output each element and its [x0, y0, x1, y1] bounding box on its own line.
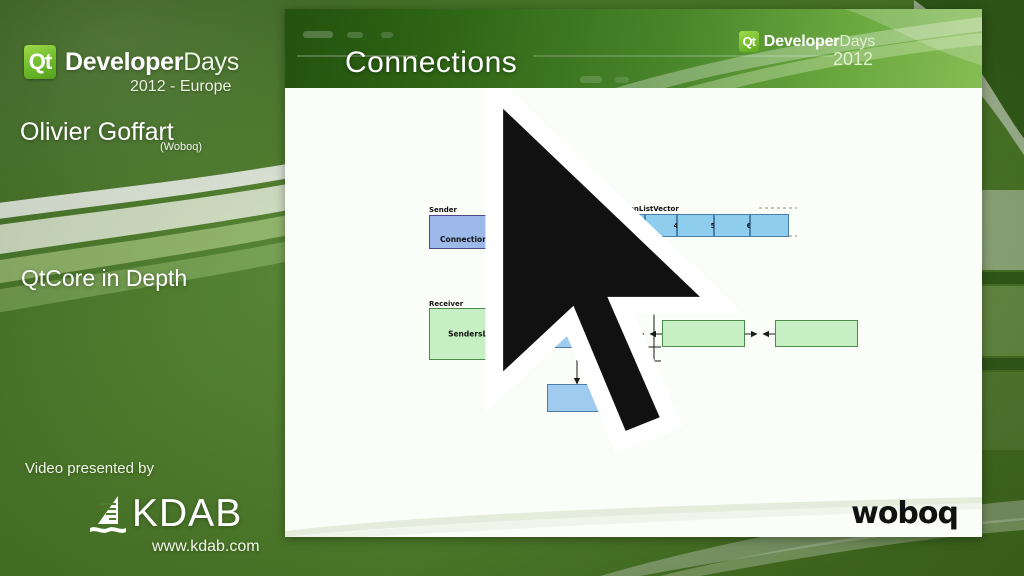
- brand-wordmark: DeveloperDays: [65, 48, 239, 77]
- sponsor-logo: KDAB: [88, 492, 242, 536]
- woboq-logo: woboq: [851, 496, 958, 531]
- receiver-senderslist-box: SendersList: [429, 308, 517, 360]
- connection-node-green-1[interactable]: [662, 320, 745, 347]
- screenshot-root: QtDeveloperDays 2012 - Europe Olivier Go…: [0, 0, 1024, 576]
- sponsor-url: www.kdab.com: [152, 538, 260, 556]
- vector-cell-6[interactable]: 6: [714, 214, 750, 237]
- brand-subtitle: 2012 - Europe: [130, 78, 231, 96]
- qt-logo-icon-small: Qt: [739, 31, 759, 52]
- slide-qt-wordmark-light: Days: [839, 33, 875, 50]
- connection-node-green-2[interactable]: [775, 320, 858, 347]
- slide-qt-wordmark: DeveloperDays: [764, 33, 875, 51]
- brand-wordmark-light: Days: [183, 48, 239, 76]
- diagram-connectors: [285, 88, 982, 493]
- slide-qt-year: 2012: [833, 49, 873, 70]
- sidebar: QtDeveloperDays 2012 - Europe Olivier Go…: [0, 0, 285, 576]
- receiver-senderslist-box-label: SendersList: [430, 330, 516, 339]
- pointer-last-label: last: [651, 238, 664, 246]
- split-node-fill: [548, 321, 632, 348]
- pointer-first-label: first: [616, 238, 630, 246]
- sender-connectionlist-box: ConnectionList: [429, 215, 514, 249]
- talk-title: QtCore in Depth: [21, 265, 187, 292]
- vector-cell-1[interactable]: 1: [546, 214, 581, 237]
- sponsor-name: KDAB: [132, 492, 242, 536]
- vector-cell-3[interactable]: 3: [616, 214, 645, 237]
- page-title: Connections: [345, 46, 517, 80]
- connection-node-blue-3[interactable]: [547, 384, 632, 412]
- vector-cell-5[interactable]: 5: [677, 214, 714, 237]
- qt-logo-icon: Qt: [24, 45, 56, 79]
- sender-connectionlist-box-label: ConnectionList: [430, 235, 513, 244]
- brand-wordmark-bold: Developer: [65, 48, 183, 76]
- vector-cell-2[interactable]: 2: [581, 214, 616, 237]
- connection-node-split-center[interactable]: [547, 320, 632, 348]
- receiver-label: Receiver: [429, 300, 463, 308]
- slide-qt-wordmark-bold: Developer: [764, 33, 840, 50]
- vector-cell-7-empty[interactable]: [750, 214, 789, 237]
- presentation-slide: Connections QtDeveloperDays 2012: [285, 9, 982, 537]
- speaker-name: Olivier Goffart: [20, 118, 174, 147]
- brand-logo: QtDeveloperDays: [24, 45, 239, 79]
- slide-header: Connections QtDeveloperDays 2012: [285, 9, 982, 88]
- vector-cell-4[interactable]: 4: [645, 214, 677, 237]
- presented-by-label: Video presented by: [25, 460, 154, 477]
- vector-label: QObjectConnectionListVector: [563, 205, 679, 213]
- connection-node-blue-1[interactable]: [547, 266, 632, 294]
- kdab-sail-icon: [88, 494, 130, 534]
- sender-label: Sender: [429, 206, 457, 214]
- connections-diagram: Sender ConnectionList QObjectConnectionL…: [285, 88, 982, 493]
- slide-footer: woboq: [285, 493, 982, 537]
- speaker-affiliation: (Woboq): [160, 141, 202, 153]
